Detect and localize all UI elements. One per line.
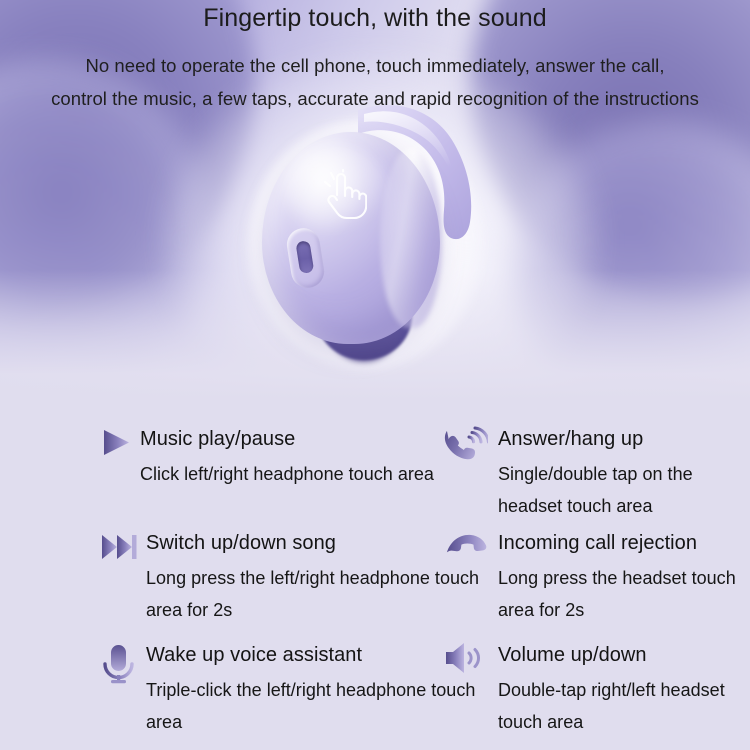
feature-description: Long press the headset touch area for 2s bbox=[498, 562, 748, 626]
microphone-icon bbox=[100, 644, 138, 684]
feature-title: Answer/hang up bbox=[498, 428, 643, 451]
feature-title: Switch up/down song bbox=[146, 532, 336, 555]
volume-speaker-icon bbox=[444, 640, 488, 676]
skip-forward-icon bbox=[100, 532, 140, 562]
phone-hangup-icon bbox=[444, 532, 488, 560]
feature-title: Incoming call rejection bbox=[498, 532, 697, 555]
feature-description: Triple-click the left/right headphone to… bbox=[146, 674, 496, 738]
infographic-page: Fingertip touch, with the sound No need … bbox=[0, 0, 750, 750]
subtitle-line-2: control the music, a few taps, accurate … bbox=[0, 88, 750, 110]
earbud-product-image bbox=[230, 110, 530, 390]
hero-section: Fingertip touch, with the sound No need … bbox=[0, 0, 750, 400]
feature-title: Music play/pause bbox=[140, 428, 295, 451]
fingertip-touch-icon bbox=[321, 169, 367, 221]
feature-title: Volume up/down bbox=[498, 644, 647, 667]
feature-description: Long press the left/right headphone touc… bbox=[146, 562, 496, 626]
feature-description: Single/double tap on the headset touch a… bbox=[498, 458, 748, 522]
play-pause-icon bbox=[100, 428, 134, 458]
feature-description: Click left/right headphone touch area bbox=[140, 458, 495, 490]
earbud-body-rim bbox=[380, 148, 442, 328]
page-title: Fingertip touch, with the sound bbox=[0, 4, 750, 33]
feature-description: Double-tap right/left headset touch area bbox=[498, 674, 748, 738]
phone-ringing-icon bbox=[444, 424, 488, 464]
subtitle-line-1: No need to operate the cell phone, touch… bbox=[0, 55, 750, 77]
feature-title: Wake up voice assistant bbox=[146, 644, 362, 667]
earbud-slot-inner bbox=[295, 240, 314, 274]
